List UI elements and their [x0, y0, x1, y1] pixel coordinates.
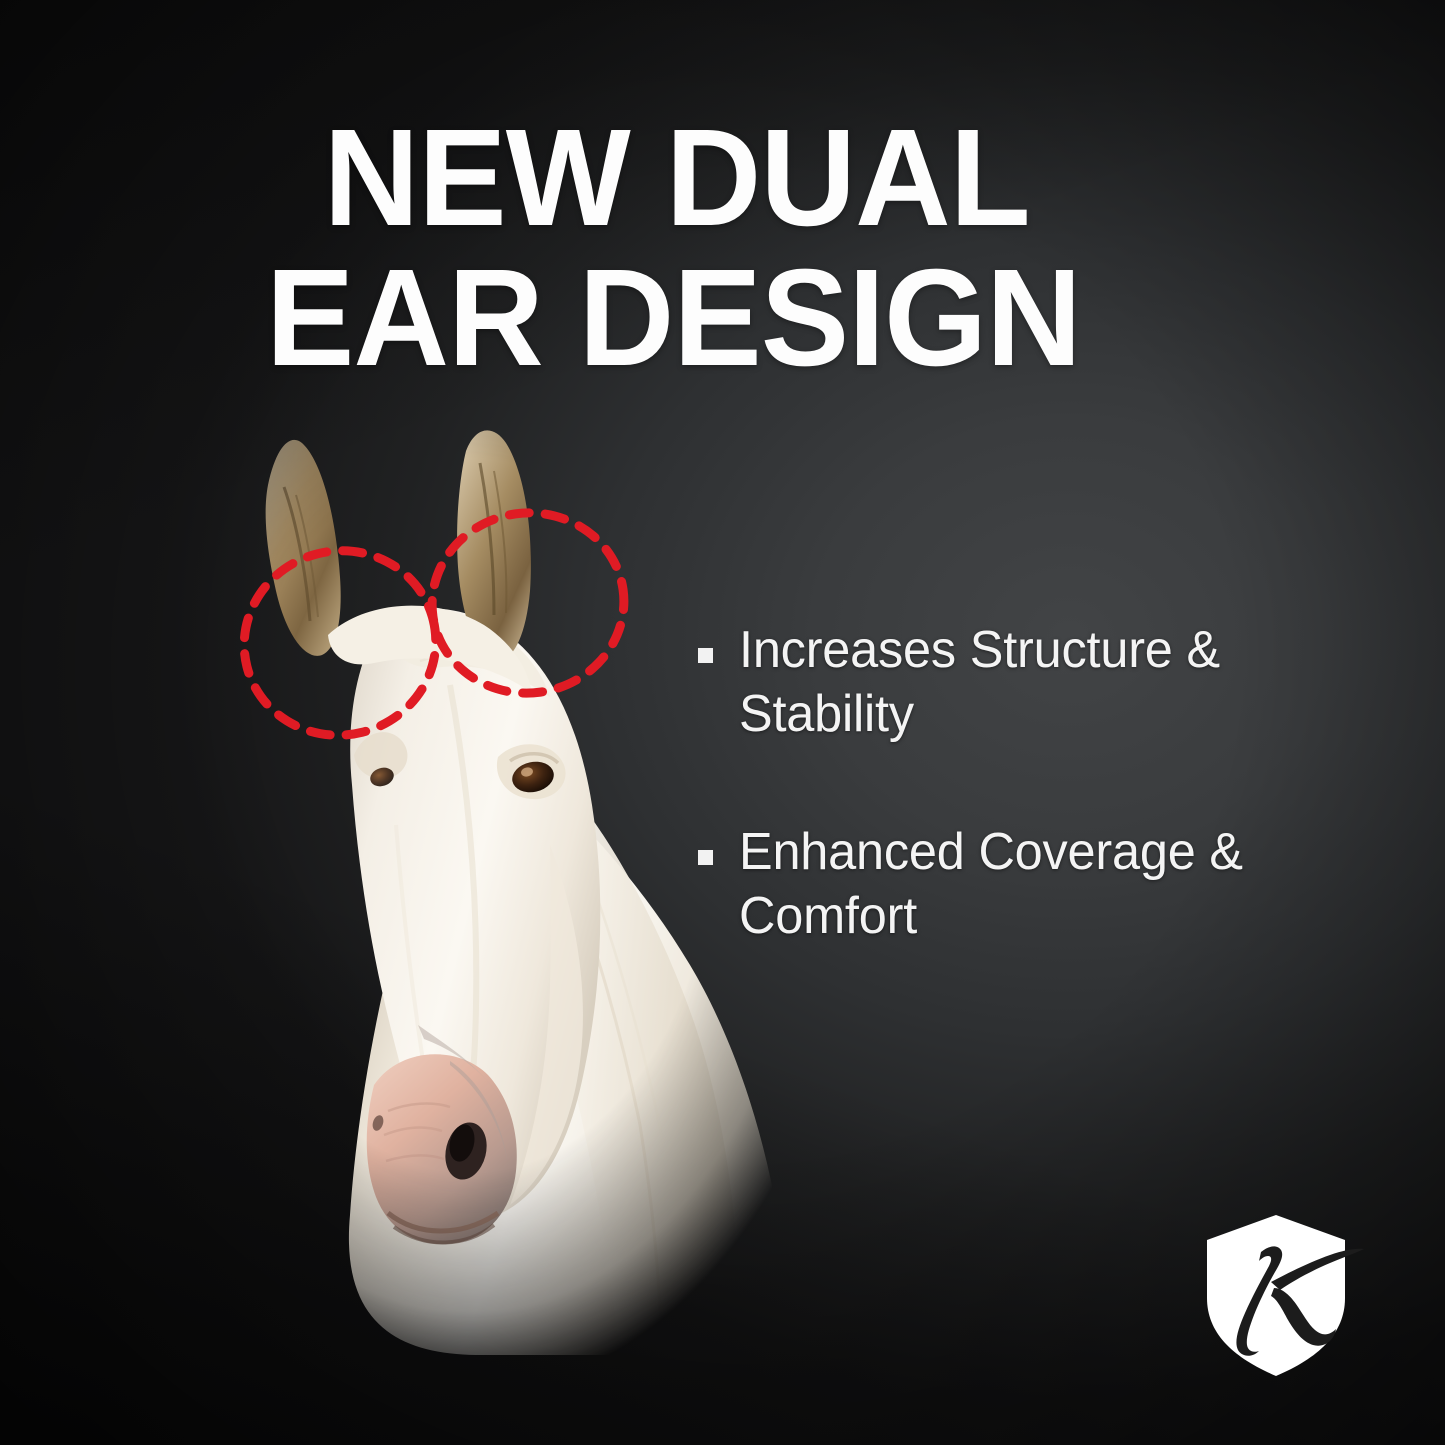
headline-line-1: NEW DUAL — [266, 108, 1168, 248]
feature-list: Increases Structure & Stability Enhanced… — [698, 618, 1358, 948]
list-item: Enhanced Coverage & Comfort — [698, 820, 1358, 948]
ad-creative-canvas: NEW DUAL EAR DESIGN Increases Structure … — [0, 0, 1445, 1445]
shield-k-logo — [1198, 1212, 1370, 1380]
feature-label: Enhanced Coverage & Comfort — [739, 820, 1339, 948]
square-bullet-icon — [698, 850, 713, 865]
square-bullet-icon — [698, 648, 713, 663]
page-title: NEW DUAL EAR DESIGN — [266, 108, 1168, 388]
horse-photo — [150, 425, 790, 1355]
feature-label: Increases Structure & Stability — [739, 618, 1339, 746]
headline-line-2: EAR DESIGN — [266, 248, 1168, 388]
list-item: Increases Structure & Stability — [698, 618, 1358, 746]
